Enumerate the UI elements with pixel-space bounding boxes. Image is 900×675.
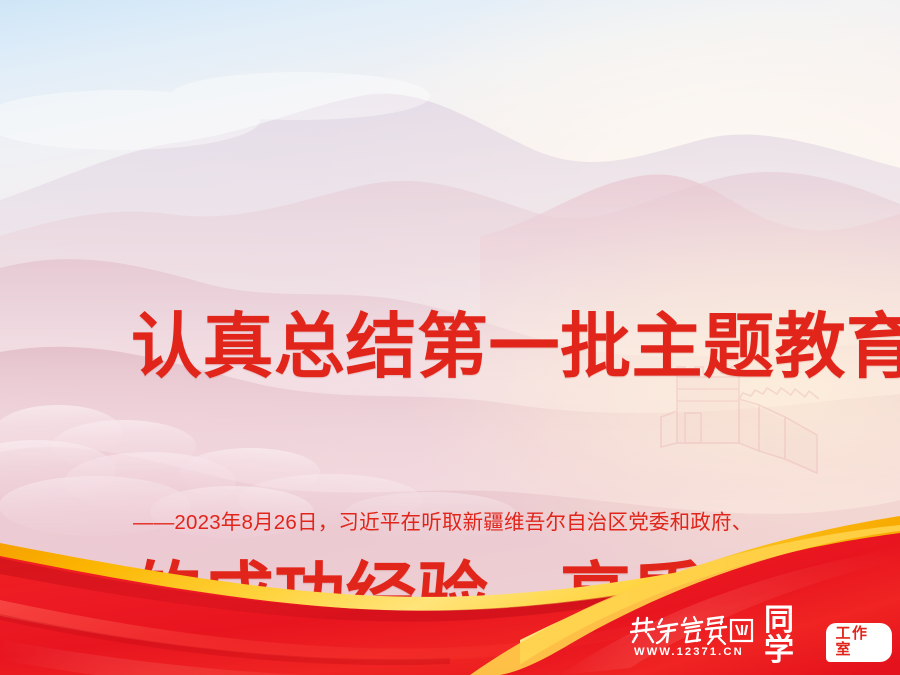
- poster-canvas: 认真总结第一批主题教育 的成功经验，高质量推进 第二批主题教育。 ——2023年…: [0, 0, 900, 675]
- logo-studio-badge: 工作室: [826, 623, 892, 662]
- logo-studio[interactable]: 同学 工作室: [764, 606, 892, 666]
- ribbon-wave-decoration: [0, 0, 900, 675]
- logo-area: WWW.12371.CN 同学 工作室: [630, 608, 892, 664]
- logo-studio-name: 同学: [764, 606, 823, 666]
- gongchandangyuan-wang-calligraphy-icon: [630, 615, 754, 645]
- logo-12371[interactable]: WWW.12371.CN: [630, 615, 754, 658]
- logo-site-url: WWW.12371.CN: [634, 646, 744, 658]
